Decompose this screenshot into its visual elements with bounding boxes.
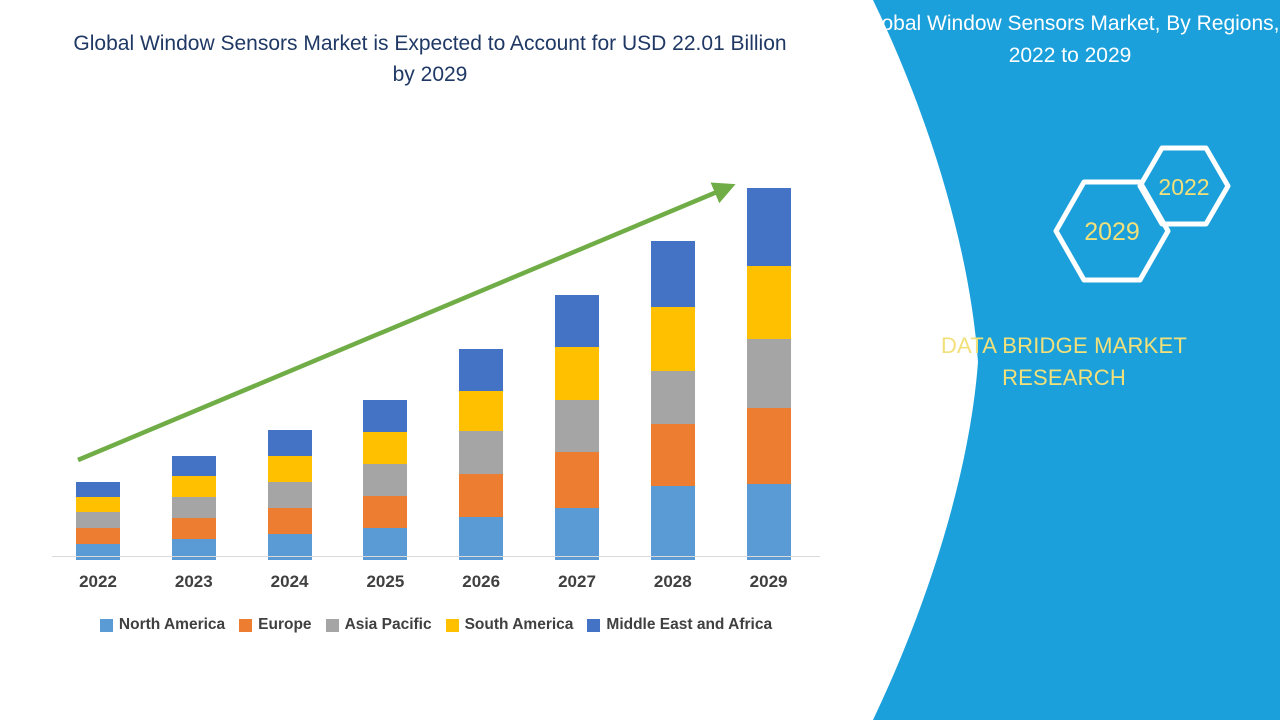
bar-2026[interactable] (459, 349, 503, 560)
bar-segment[interactable] (555, 347, 599, 400)
slide-root: Global Window Sensors Market is Expected… (0, 0, 1280, 720)
bar-segment[interactable] (363, 464, 407, 496)
legend-item[interactable]: Asia Pacific (326, 616, 432, 634)
bar-segment[interactable] (268, 508, 312, 534)
chart-title: Global Window Sensors Market is Expected… (70, 28, 790, 90)
bar-segment[interactable] (268, 456, 312, 482)
bar-segment[interactable] (172, 476, 216, 497)
legend-label: North America (119, 616, 225, 634)
x-axis-label-2025: 2025 (345, 572, 425, 592)
growth-trend-arrow (52, 150, 820, 560)
hexagon-2029-label: 2029 (1084, 218, 1140, 246)
x-axis-label-2029: 2029 (729, 572, 809, 592)
legend-swatch-icon (446, 619, 459, 632)
bar-2025[interactable] (363, 400, 407, 560)
bar-segment[interactable] (651, 371, 695, 424)
legend-swatch-icon (100, 619, 113, 632)
bar-segment[interactable] (747, 408, 791, 484)
bar-2029[interactable] (747, 188, 791, 560)
bar-segment[interactable] (651, 241, 695, 307)
chart-plot-area (52, 150, 820, 560)
hexagon-logo: 2029 2022 (982, 140, 1262, 320)
bar-segment[interactable] (76, 482, 120, 497)
legend-item[interactable]: Middle East and Africa (587, 616, 772, 634)
hexagon-2022-label: 2022 (1158, 174, 1209, 200)
x-axis-label-2024: 2024 (250, 572, 330, 592)
x-axis-label-2027: 2027 (537, 572, 617, 592)
bar-segment[interactable] (555, 400, 599, 452)
x-axis-label-2028: 2028 (633, 572, 713, 592)
bar-segment[interactable] (363, 400, 407, 432)
bar-2023[interactable] (172, 456, 216, 560)
bar-2027[interactable] (555, 295, 599, 560)
bar-segment[interactable] (268, 482, 312, 508)
x-axis-label-2023: 2023 (154, 572, 234, 592)
legend-swatch-icon (326, 619, 339, 632)
bar-segment[interactable] (363, 432, 407, 464)
legend-item[interactable]: South America (446, 616, 574, 634)
bar-segment[interactable] (172, 456, 216, 476)
legend-label: South America (465, 616, 574, 634)
bar-segment[interactable] (651, 424, 695, 486)
bar-2028[interactable] (651, 241, 695, 560)
bar-segment[interactable] (459, 474, 503, 517)
legend-label: Europe (258, 616, 311, 634)
chart-legend: North AmericaEuropeAsia PacificSouth Ame… (52, 616, 820, 634)
x-axis-label-2022: 2022 (58, 572, 138, 592)
bar-2022[interactable] (76, 482, 120, 560)
legend-label: Middle East and Africa (606, 616, 772, 634)
bar-segment[interactable] (747, 484, 791, 560)
bar-segment[interactable] (76, 497, 120, 512)
legend-swatch-icon (587, 619, 600, 632)
panel-title: Global Window Sensors Market, By Regions… (860, 8, 1280, 72)
bar-segment[interactable] (172, 497, 216, 518)
bar-segment[interactable] (651, 307, 695, 371)
x-axis-labels: 20222023202420252026202720282029 (52, 572, 820, 600)
bar-segment[interactable] (268, 430, 312, 456)
bar-segment[interactable] (747, 188, 791, 266)
bar-segment[interactable] (76, 528, 120, 544)
bar-segment[interactable] (459, 349, 503, 391)
bar-segment[interactable] (555, 295, 599, 347)
x-axis-label-2026: 2026 (441, 572, 521, 592)
legend-swatch-icon (239, 619, 252, 632)
bar-segment[interactable] (555, 508, 599, 560)
bar-segment[interactable] (555, 452, 599, 508)
brand-name: DATA BRIDGE MARKET RESEARCH (894, 330, 1234, 394)
legend-label: Asia Pacific (345, 616, 432, 634)
bar-segment[interactable] (76, 512, 120, 528)
bar-segment[interactable] (76, 544, 120, 560)
bar-segment[interactable] (747, 339, 791, 408)
bar-segment[interactable] (172, 518, 216, 539)
bar-segment[interactable] (747, 266, 791, 339)
bar-segment[interactable] (363, 496, 407, 528)
legend-item[interactable]: North America (100, 616, 225, 634)
bar-2024[interactable] (268, 430, 312, 560)
bar-segment[interactable] (459, 391, 503, 431)
bar-segment[interactable] (459, 517, 503, 560)
bar-segment[interactable] (459, 431, 503, 474)
x-axis-line (52, 556, 820, 557)
bar-segment[interactable] (651, 486, 695, 560)
legend-item[interactable]: Europe (239, 616, 311, 634)
